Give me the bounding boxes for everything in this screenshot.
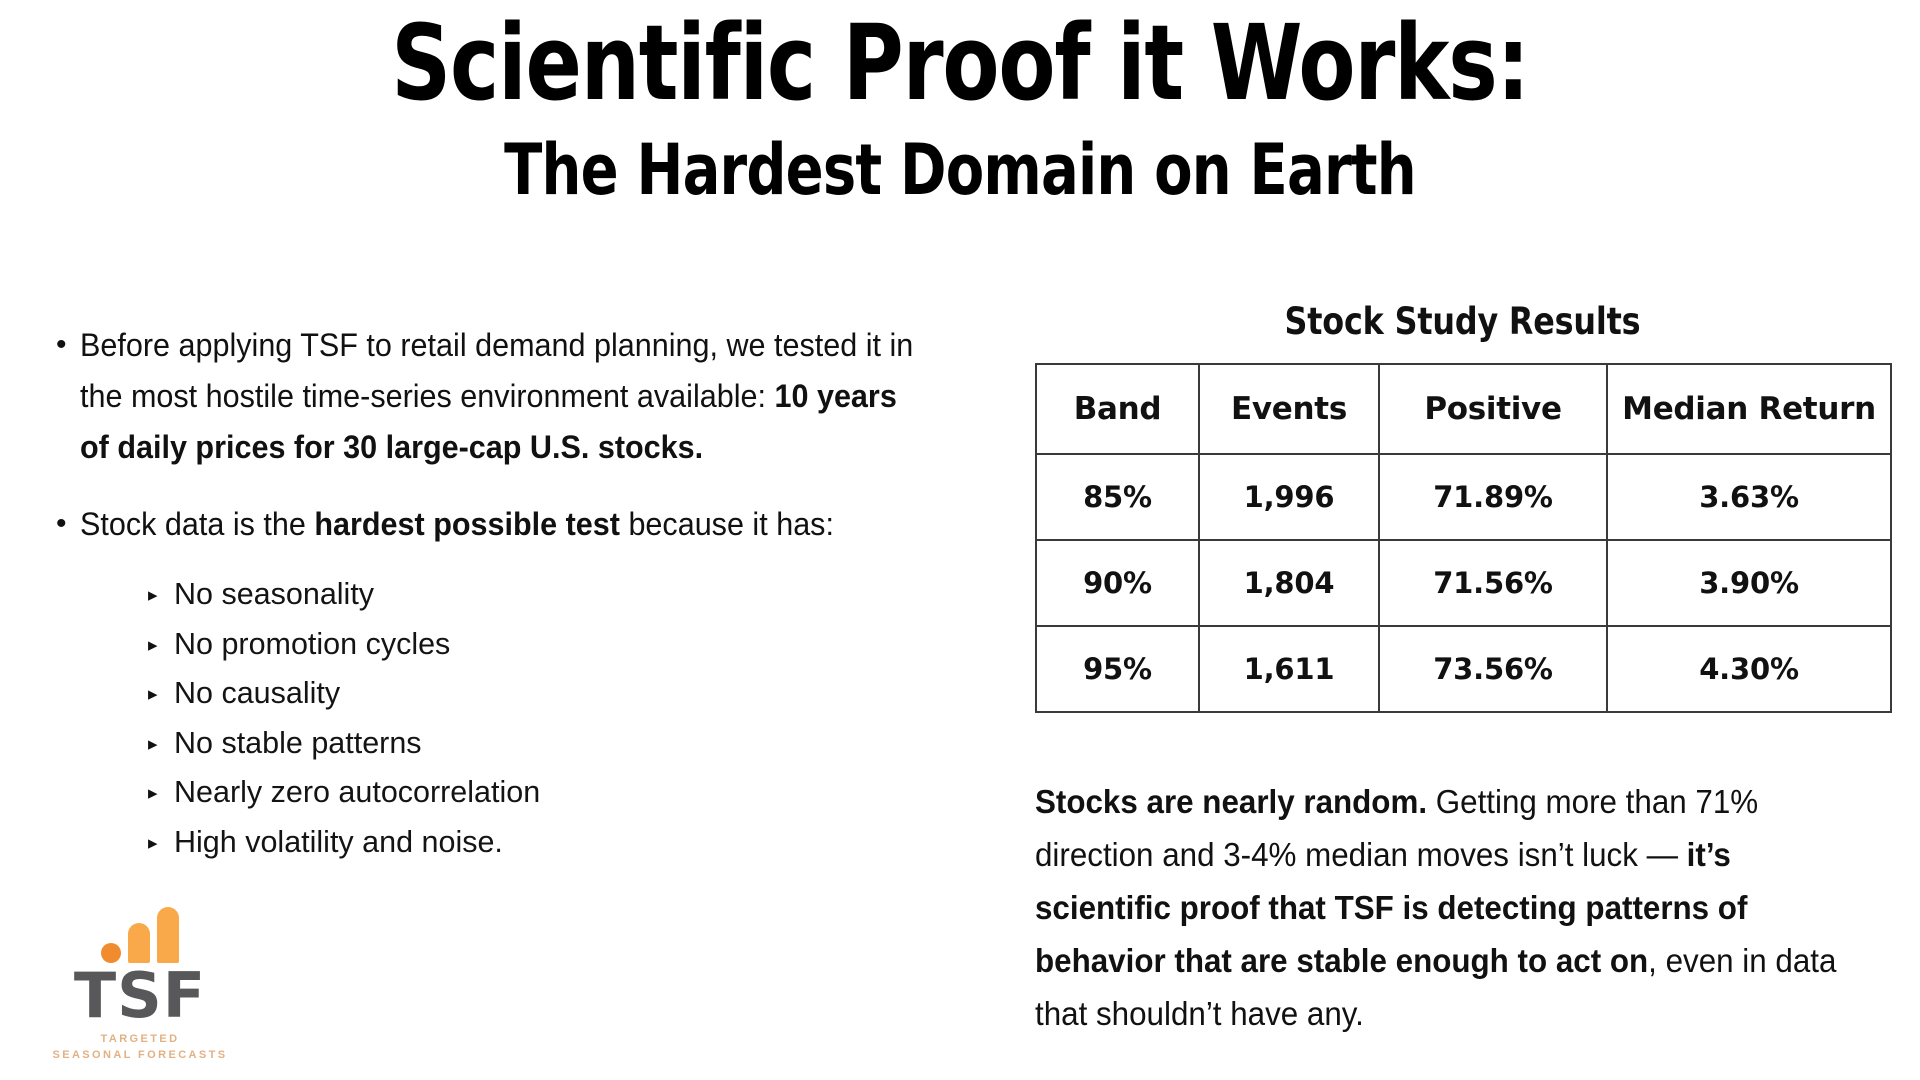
triangle-bullet-icon: ▸: [148, 834, 174, 853]
body-text: because it has:: [620, 506, 834, 542]
right-content-column: Stock Study Results BandEventsPositiveMe…: [1035, 300, 1890, 1040]
sub-bullet-item: ▸Nearly zero autocorrelation: [148, 774, 986, 811]
logo-tagline: TARGETED SEASONAL FORECASTS: [40, 1032, 240, 1064]
sub-bullet-label: High volatility and noise.: [174, 824, 503, 861]
logo-wordmark: TSF: [40, 965, 240, 1027]
table-header-row: BandEventsPositiveMedian Return: [1036, 364, 1891, 454]
logo-bar-tall-icon: [157, 907, 179, 963]
triangle-bullet-icon: ▸: [148, 685, 174, 704]
triangle-bullet-icon: ▸: [148, 586, 174, 605]
table-cell: 73.56%: [1379, 626, 1607, 712]
sub-bullet-item: ▸No causality: [148, 675, 986, 712]
sub-bullet-label: No seasonality: [174, 576, 374, 613]
triangle-bullet-icon: ▸: [148, 784, 174, 803]
triangle-bullet-icon: ▸: [148, 735, 174, 754]
table-cell: 1,804: [1199, 540, 1379, 626]
table-row: 90%1,80471.56%3.90%: [1036, 540, 1891, 626]
table-cell: 95%: [1036, 626, 1199, 712]
page-title: Scientific Proof it Works:: [192, 8, 1728, 118]
table-cell: 3.63%: [1607, 454, 1891, 540]
triangle-bullet-icon: ▸: [148, 636, 174, 655]
slide-root: Scientific Proof it Works: The Hardest D…: [0, 0, 1920, 1080]
tsf-logo: TSF TARGETED SEASONAL FORECASTS: [40, 907, 240, 1064]
table-cell: 85%: [1036, 454, 1199, 540]
table-column-header: Band: [1036, 364, 1199, 454]
sub-bullet-label: No promotion cycles: [174, 626, 450, 663]
bar-chart-icon: [40, 907, 240, 963]
table-column-header: Median Return: [1607, 364, 1891, 454]
stock-study-results-table: BandEventsPositiveMedian Return 85%1,996…: [1035, 363, 1892, 713]
bullet-item: •Before applying TSF to retail demand pl…: [56, 320, 986, 473]
table-row: 95%1,61173.56%4.30%: [1036, 626, 1891, 712]
sub-bullet-label: No causality: [174, 675, 340, 712]
sub-bullet-label: Nearly zero autocorrelation: [174, 774, 540, 811]
body-text: Stock data is the: [80, 506, 314, 542]
table-cell: 71.89%: [1379, 454, 1607, 540]
bullet-list: •Before applying TSF to retail demand pl…: [56, 320, 986, 550]
emphasis-text: Stocks are nearly random.: [1035, 783, 1427, 820]
bullet-item: •Stock data is the hardest possible test…: [56, 499, 986, 550]
bullet-text: Stock data is the hardest possible test …: [80, 499, 932, 550]
table-row: 85%1,99671.89%3.63%: [1036, 454, 1891, 540]
sub-bullet-label: No stable patterns: [174, 725, 422, 762]
sub-bullet-list: ▸No seasonality▸No promotion cycles▸No c…: [148, 576, 986, 861]
table-body: 85%1,99671.89%3.63%90%1,80471.56%3.90%95…: [1036, 454, 1891, 712]
title-block: Scientific Proof it Works: The Hardest D…: [0, 8, 1920, 209]
left-content-column: •Before applying TSF to retail demand pl…: [56, 320, 986, 874]
logo-tagline-line1: TARGETED: [40, 1032, 240, 1048]
sub-bullet-item: ▸No stable patterns: [148, 725, 986, 762]
emphasis-text: hardest possible test: [314, 506, 620, 542]
summary-paragraph: Stocks are nearly random. Getting more t…: [1035, 775, 1838, 1040]
table-cell: 1,996: [1199, 454, 1379, 540]
table-column-header: Positive: [1379, 364, 1607, 454]
logo-tagline-line2: SEASONAL FORECASTS: [40, 1048, 240, 1064]
bullet-marker-icon: •: [56, 320, 80, 370]
table-cell: 71.56%: [1379, 540, 1607, 626]
table-cell: 90%: [1036, 540, 1199, 626]
bullet-text: Before applying TSF to retail demand pla…: [80, 320, 932, 473]
bullet-marker-icon: •: [56, 499, 80, 549]
table-cell: 3.90%: [1607, 540, 1891, 626]
logo-bar-medium-icon: [128, 923, 150, 963]
table-cell: 4.30%: [1607, 626, 1891, 712]
page-subtitle: The Hardest Domain on Earth: [192, 132, 1728, 209]
sub-bullet-item: ▸High volatility and noise.: [148, 824, 986, 861]
sub-bullet-item: ▸No seasonality: [148, 576, 986, 613]
table-title: Stock Study Results: [1095, 300, 1830, 343]
table-column-header: Events: [1199, 364, 1379, 454]
table-cell: 1,611: [1199, 626, 1379, 712]
sub-bullet-item: ▸No promotion cycles: [148, 626, 986, 663]
